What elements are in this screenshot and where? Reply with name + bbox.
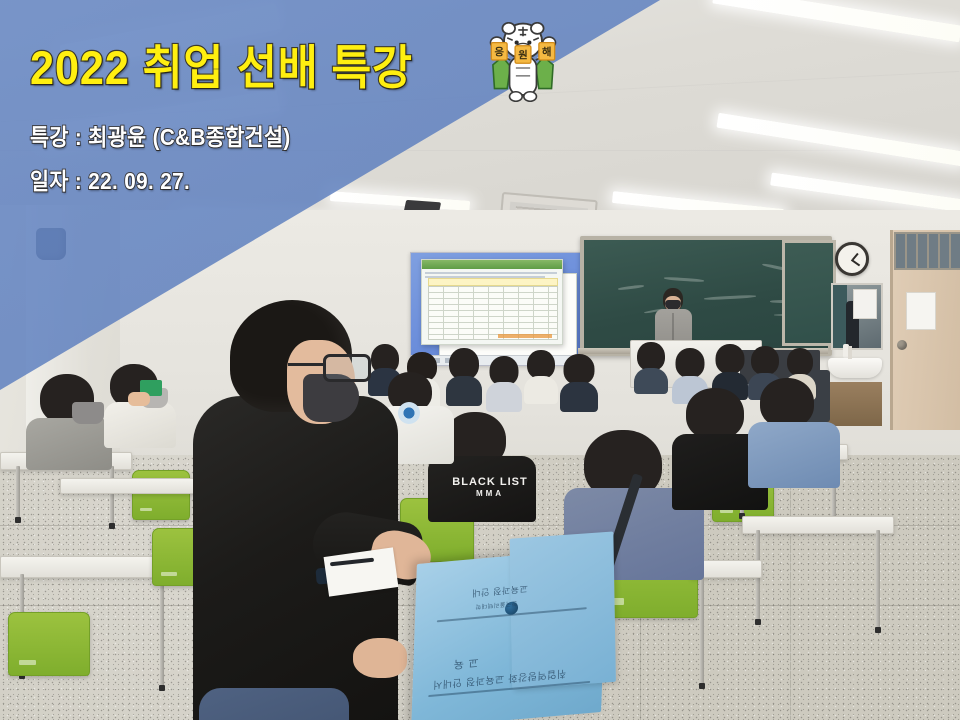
foreground-student-jeans [199, 688, 349, 720]
door-notice-poster [906, 292, 936, 330]
banner-line-speaker: 특강 : 최광윤 (C&B종합건설) [30, 126, 320, 149]
door-window [894, 232, 960, 270]
mascot-foot-left [510, 92, 523, 102]
mascot-sign-1: 응 [491, 43, 507, 60]
poster-image: BLACK LIST MMA [0, 0, 960, 720]
mirror-notice [853, 289, 877, 319]
chair [8, 612, 90, 676]
student-blue-shirt [748, 378, 840, 488]
student [560, 354, 598, 412]
mascot-ear-left [502, 23, 515, 34]
orange-note [498, 334, 552, 338]
sink [828, 358, 882, 378]
student-left-front [26, 374, 112, 470]
shirt-print-line2: MMA [444, 489, 536, 498]
chalkboard-side-panel [782, 240, 836, 346]
projection-screen [410, 252, 584, 366]
banner-line-date-text: 일자 : 22. 09. 27. [30, 170, 190, 193]
ribbon-bar [422, 260, 562, 269]
mascot-sign-2: 원 [515, 46, 531, 63]
blue-folder: 교육과정 안내 한국폴리텍대학 교 육 취업역량강화 교육과정 안내서 [411, 547, 607, 720]
svg-text:해: 해 [542, 45, 551, 58]
banner-line-date: 일자 : 22. 09. 27. [30, 170, 208, 193]
shirt-print-line1: BLACK LIST [444, 476, 536, 489]
shirt-print: BLACK LIST MMA [444, 476, 536, 506]
spreadsheet-grid [428, 286, 558, 340]
wall-clock [835, 242, 869, 276]
mascot-robe-left [493, 57, 510, 89]
student [634, 342, 668, 394]
classroom-photo: BLACK LIST MMA [0, 0, 960, 720]
mirror [831, 283, 883, 350]
svg-text:응: 응 [494, 46, 504, 58]
door-knob[interactable] [897, 340, 907, 350]
desk [742, 516, 894, 534]
mascot-sign-3: 해 [539, 43, 555, 60]
mascot-robe-right [536, 57, 553, 89]
page-title: 2022 취업 선배 특강 [30, 44, 413, 91]
foreground-student [175, 300, 390, 720]
banner-line-speaker-text: 특강 : 최광윤 (C&B종합건설) [30, 126, 291, 149]
raised-hand [128, 392, 150, 406]
foreground-student-hand-lower [353, 638, 407, 678]
spreadsheet-window [421, 259, 563, 345]
student [486, 356, 522, 412]
white-tiger-mascot: 응 원 해 [483, 22, 563, 106]
banner-title-wrap: 2022 취업 선배 특강 [30, 44, 446, 91]
flower-graphic [398, 402, 420, 424]
mascot-ear-right [531, 23, 544, 34]
wall-speaker [36, 228, 66, 260]
student-left-back [104, 364, 176, 448]
svg-text:원: 원 [518, 48, 527, 61]
student [524, 350, 558, 404]
curtain [833, 285, 847, 348]
highlight-row [428, 278, 558, 286]
glasses-icon [323, 354, 371, 382]
mascot-foot-right [524, 92, 537, 102]
